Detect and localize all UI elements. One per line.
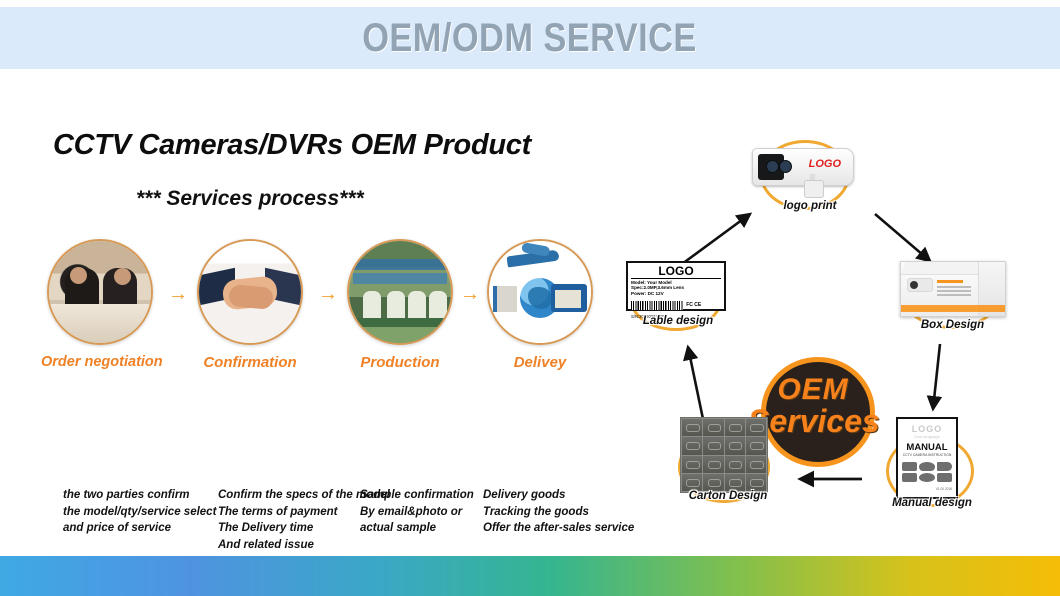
step-label: Delivey <box>481 354 599 371</box>
bottom-gradient-bar <box>0 556 1060 596</box>
step-label: Order negotiation <box>41 354 159 370</box>
product-box-icon <box>900 261 1006 317</box>
page-header: OEM/ODM SERVICE <box>0 7 1060 69</box>
step-description-production: Sample confirmation By email&photo or ac… <box>360 487 474 537</box>
barcode-icon <box>631 301 683 310</box>
services-process-panel: CCTV Cameras/DVRs OEM Product *** Servic… <box>28 99 588 539</box>
step-label: Production <box>341 354 459 371</box>
node-label: Manual design <box>872 497 992 509</box>
confirmation-image <box>197 239 303 345</box>
diagram-node-box-design[interactable]: Box Design <box>890 261 1015 341</box>
diagram-node-logo-print[interactable]: LOGO logo print <box>740 134 880 219</box>
step-arrow-icon: → <box>460 283 480 306</box>
node-label: Lable design <box>618 315 738 327</box>
diagram-node-manual-design[interactable]: LOGO Your language MANUAL CCTV CAMERA IN… <box>872 417 992 522</box>
manual-title-text: MANUAL <box>902 442 952 453</box>
delivery-image <box>487 239 593 345</box>
arrow-label-to-logo <box>682 214 750 264</box>
desc-line: Sample confirmation <box>360 487 474 504</box>
manual-booklet-icon: LOGO Your language MANUAL CCTV CAMERA IN… <box>896 417 958 499</box>
desc-line: By email&photo or <box>360 504 474 521</box>
bullet-camera-icon: LOGO <box>752 148 854 186</box>
arrow-carton-to-label <box>688 347 703 419</box>
oem-services-cycle-diagram: OEM Services LOGO logo print LOGO Model:… <box>600 79 1050 519</box>
desc-line: the model/qty/service select <box>63 504 216 521</box>
camera-mount <box>804 180 824 198</box>
node-label: Carton Design <box>668 490 788 502</box>
step-arrow-icon: → <box>168 283 188 306</box>
manual-icon-grid <box>902 462 952 482</box>
content-stage: CCTV Cameras/DVRs OEM Product *** Servic… <box>0 69 1060 545</box>
process-steps: Order negotiation → Confirmation → <box>28 239 588 469</box>
process-step-production: Production <box>341 239 459 371</box>
product-label-icon: LOGO Model: Your Model Spec:2.0MP,3.6mm … <box>626 261 726 311</box>
desc-line: and price of service <box>63 520 216 537</box>
manual-footer-text: V1.00 2016 <box>902 487 952 491</box>
step-label: Confirmation <box>191 354 309 371</box>
node-label: Box Design <box>890 319 1015 331</box>
diagram-node-lable-design[interactable]: LOGO Model: Your Model Spec:2.0MP,3.6mm … <box>618 261 738 339</box>
process-step-delivery: Delivey <box>481 239 599 371</box>
left-panel-title: CCTV Cameras/DVRs OEM Product <box>53 129 531 162</box>
hub-line-1: OEM <box>748 373 878 407</box>
arrow-box-to-manual <box>933 344 940 409</box>
desc-line: And related issue <box>218 537 390 554</box>
production-image <box>347 239 453 345</box>
diagram-node-carton-design[interactable]: Carton Design <box>668 417 788 517</box>
left-panel-subtitle: *** Services process*** <box>136 187 364 211</box>
manual-subtitle-text: CCTV CAMERA INSTRUCTION <box>902 453 952 458</box>
process-step-order-negotiation: Order negotiation <box>41 239 159 370</box>
arrow-logo-to-box <box>875 214 930 261</box>
desc-line: actual sample <box>360 520 474 537</box>
label-logo-text: LOGO <box>631 265 721 277</box>
camera-logo-text: LOGO <box>809 158 841 170</box>
carton-stack-icon <box>680 417 768 493</box>
desc-line: the two parties confirm <box>63 487 216 504</box>
step-arrow-icon: → <box>318 283 338 306</box>
manual-logo-text: LOGO <box>902 424 952 434</box>
order-negotiation-image <box>47 239 153 345</box>
node-label: logo print <box>740 200 880 212</box>
manual-sub-text: Your language <box>902 434 952 439</box>
certification-marks: FC CE <box>686 302 701 308</box>
step-description-order-negotiation: the two parties confirm the model/qty/se… <box>63 487 216 537</box>
process-step-confirmation: Confirmation <box>191 239 309 371</box>
page-title: OEM/ODM SERVICE <box>363 16 698 61</box>
